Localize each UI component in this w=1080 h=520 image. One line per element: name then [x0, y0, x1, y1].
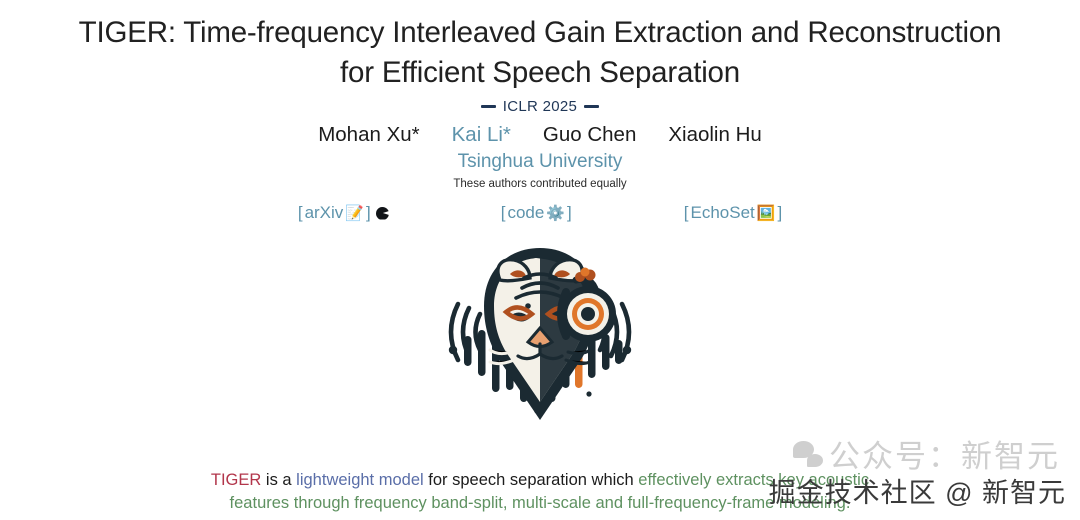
- bracket-open: [: [684, 203, 689, 223]
- bracket-close: ]: [366, 203, 371, 223]
- author-xiaolin-hu: Xiaolin Hu: [668, 123, 761, 147]
- equal-contribution-note: These authors contributed equally: [453, 178, 626, 190]
- title-line-1: TIGER: Time-frequency Interleaved Gain E…: [79, 16, 1002, 49]
- caption: TIGER is a lightweight model for speech …: [0, 469, 1080, 515]
- bracket-open: [: [298, 203, 303, 223]
- black-blob-icon: [376, 207, 389, 220]
- link-echoset[interactable]: [ EchoSet 🖼️ ]: [684, 203, 782, 223]
- page-title: TIGER: Time-frequency Interleaved Gain E…: [12, 13, 1068, 93]
- slide-root: TIGER: Time-frequency Interleaved Gain E…: [0, 0, 1080, 520]
- bracket-close: ]: [777, 203, 782, 223]
- wechat-icon: [793, 441, 823, 467]
- caption-lightweight: lightweight model: [296, 471, 424, 489]
- author-guo-chen: Guo Chen: [543, 123, 636, 147]
- venue-label: ICLR 2025: [503, 98, 577, 115]
- bracket-open: [: [501, 203, 506, 223]
- link-arxiv[interactable]: [ arXiv 📝 ]: [298, 203, 389, 223]
- tiger-logo-svg: [440, 236, 640, 426]
- framed-picture-icon: 🖼️: [757, 206, 776, 221]
- caption-line-2: features through frequency band-split, m…: [0, 492, 1080, 515]
- link-code-label: code: [507, 203, 544, 223]
- venue-badge: ICLR 2025: [481, 98, 599, 115]
- resource-links: [ arXiv 📝 ] [ code ⚙️ ] [ EchoSet 🖼️ ]: [298, 203, 782, 223]
- caption-seg-5: effectively extracts key acoustic: [638, 471, 869, 489]
- author-kai-li[interactable]: Kai Li*: [452, 123, 511, 147]
- affiliation: Tsinghua University: [458, 151, 623, 173]
- bracket-close: ]: [567, 203, 572, 223]
- sound-wave-arcs-left: [451, 304, 480, 360]
- caption-tiger-word: TIGER: [211, 471, 261, 489]
- author-list: Mohan Xu* Kai Li* Guo Chen Xiaolin Hu: [318, 123, 762, 147]
- gear-icon: ⚙️: [546, 206, 565, 221]
- title-line-2: for Efficient Speech Separation: [12, 53, 1068, 93]
- link-code[interactable]: [ code ⚙️ ]: [501, 203, 572, 223]
- memo-icon: 📝: [345, 206, 364, 221]
- caption-seg-2: is a: [261, 471, 296, 489]
- dash-right-icon: [584, 105, 599, 108]
- link-arxiv-label: arXiv: [305, 203, 344, 223]
- dash-left-icon: [481, 105, 496, 108]
- author-mohan-xu: Mohan Xu*: [318, 123, 419, 147]
- caption-line-1: TIGER is a lightweight model for speech …: [0, 469, 1080, 492]
- caption-seg-6: features through frequency band-split, m…: [230, 494, 851, 512]
- tiger-headphones-waveform-logo: [440, 236, 640, 426]
- link-echoset-label: EchoSet: [690, 203, 754, 223]
- caption-seg-4: for speech separation which: [424, 471, 639, 489]
